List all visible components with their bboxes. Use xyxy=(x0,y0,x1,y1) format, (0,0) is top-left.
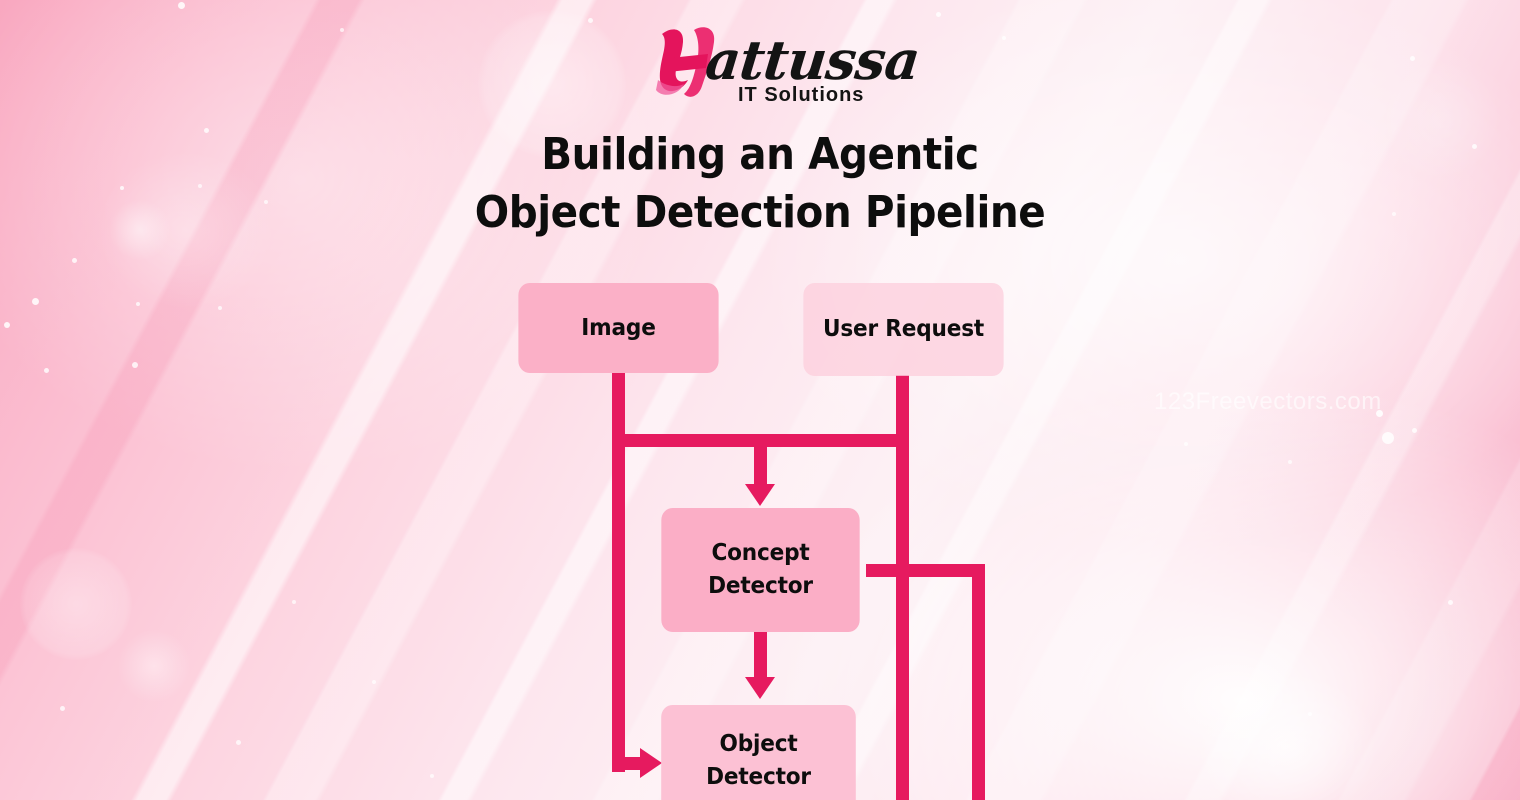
node-object-detector-label-line-2: Detector xyxy=(706,764,811,790)
node-image[interactable]: Image xyxy=(518,283,718,373)
poster-canvas: 123Freevectors.com attussa IT Solutions … xyxy=(0,0,1520,800)
edge-image-to-object-arrowhead xyxy=(640,748,662,778)
page-title: Building an Agentic Object Detection Pip… xyxy=(61,126,1459,242)
node-object-detector[interactable]: Object Detector xyxy=(661,705,856,800)
node-concept-detector-label-line-2: Detector xyxy=(708,573,813,599)
logo-wordmark: attussa xyxy=(703,28,923,92)
node-object-detector-label-line-1: Object xyxy=(720,731,798,757)
node-image-label: Image xyxy=(581,312,655,345)
page-title-line-2: Object Detection Pipeline xyxy=(61,184,1459,242)
node-concept-detector-label-line-1: Concept xyxy=(711,540,809,566)
logo-tagline: IT Solutions xyxy=(738,84,864,107)
node-concept-detector-label: Concept Detector xyxy=(708,537,813,603)
edge-image-stem xyxy=(612,372,625,772)
edge-concept-right-bar xyxy=(866,564,985,577)
edge-right-bus-stem xyxy=(972,564,985,800)
page-title-line-1: Building an Agentic xyxy=(541,129,978,180)
brand-logo: attussa IT Solutions xyxy=(650,22,880,108)
node-user-request[interactable]: User Request xyxy=(803,283,1003,376)
edge-concept-to-object-arrowhead xyxy=(745,677,775,699)
node-user-request-label: User Request xyxy=(823,313,984,346)
node-object-detector-label: Object Detector xyxy=(706,728,811,794)
node-concept-detector[interactable]: Concept Detector xyxy=(661,508,859,632)
edge-to-concept-arrowhead xyxy=(745,484,775,506)
edge-concept-to-object-stem xyxy=(754,632,767,680)
edge-to-concept-stem xyxy=(754,440,767,488)
